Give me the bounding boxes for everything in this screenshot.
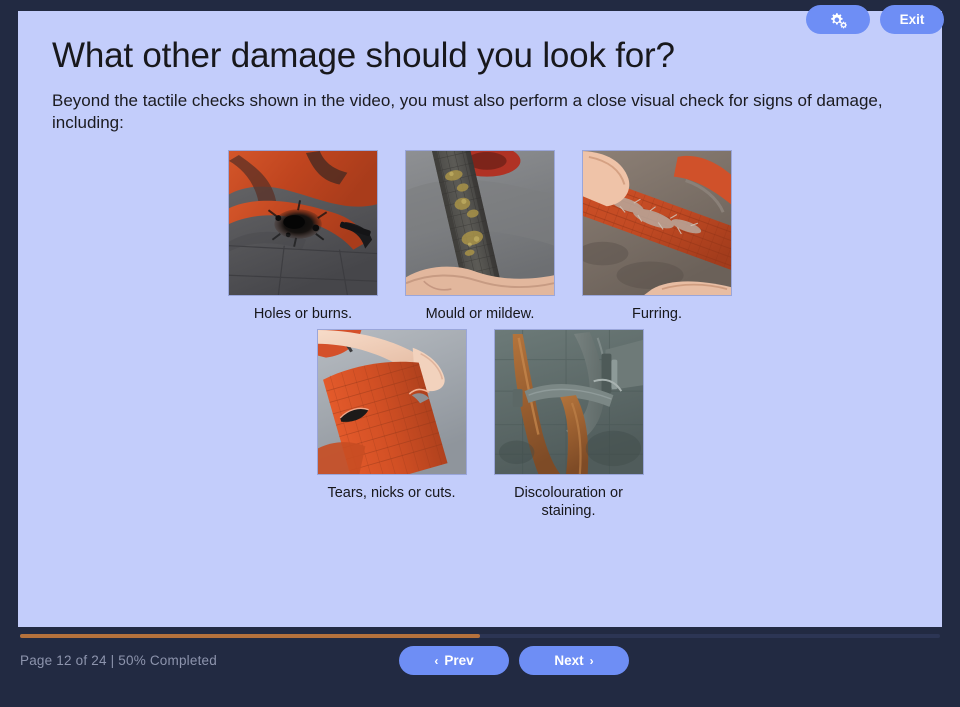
chevron-right-icon: ›: [590, 655, 594, 667]
photo-holes-or-burns: [228, 150, 378, 296]
photo-mould-or-mildew: [405, 150, 555, 296]
prev-button-label: Prev: [444, 653, 473, 668]
page-status-text: Page 12 of 24 | 50% Completed: [20, 653, 217, 668]
damage-card-furring: Furring.: [582, 150, 732, 323]
exit-button-label: Exit: [900, 12, 925, 27]
damage-card-mould-or-mildew: Mould or mildew.: [405, 150, 555, 323]
damage-card-holes-or-burns: Holes or burns.: [228, 150, 378, 323]
next-button[interactable]: Next ›: [519, 646, 629, 675]
course-player: What other damage should you look for? B…: [0, 0, 960, 707]
damage-card-tears-nicks-or-cuts: Tears, nicks or cuts.: [317, 329, 467, 520]
navigation-buttons: ‹ Prev Next ›: [399, 646, 629, 675]
page-title: What other damage should you look for?: [52, 37, 942, 76]
photo-tears-nicks-or-cuts: [317, 329, 467, 475]
damage-card-caption: Discolouration or staining.: [494, 484, 644, 520]
damage-card-caption: Tears, nicks or cuts.: [327, 484, 455, 502]
next-button-label: Next: [554, 653, 583, 668]
settings-button[interactable]: [806, 5, 870, 34]
photo-discolouration-or-staining: [494, 329, 644, 475]
damage-card-caption: Furring.: [632, 305, 682, 323]
gear-icon: [828, 11, 848, 29]
damage-card-caption: Mould or mildew.: [426, 305, 535, 323]
photo-furring: [582, 150, 732, 296]
slide-intro-text: Beyond the tactile checks shown in the v…: [52, 90, 892, 136]
player-utility-buttons: Exit: [806, 5, 944, 34]
image-row-1: Holes or burns.: [18, 150, 942, 323]
exit-button[interactable]: Exit: [880, 5, 944, 34]
progress-track: [20, 634, 940, 638]
damage-card-discolouration-or-staining: Discolouration or staining.: [494, 329, 644, 520]
chevron-left-icon: ‹: [434, 655, 438, 667]
image-row-2: Tears, nicks or cuts.: [18, 329, 942, 520]
slide-panel: What other damage should you look for? B…: [18, 11, 942, 627]
prev-button[interactable]: ‹ Prev: [399, 646, 509, 675]
damage-card-caption: Holes or burns.: [254, 305, 352, 323]
progress-fill: [20, 634, 480, 638]
